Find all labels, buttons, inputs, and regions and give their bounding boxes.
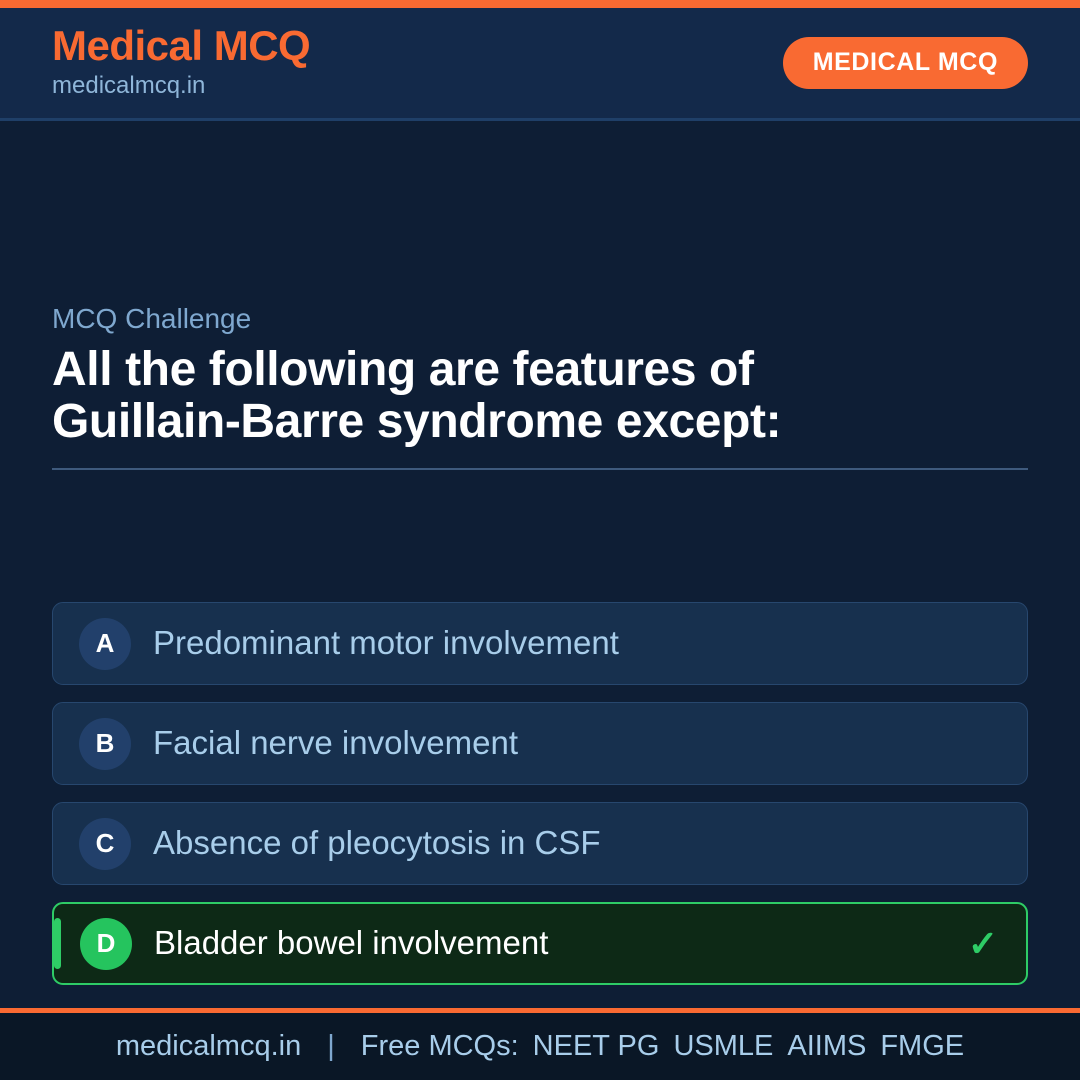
footer-exam[interactable]: USMLE	[673, 1030, 773, 1062]
footer-separator: |	[327, 1030, 335, 1063]
option-b[interactable]: BFacial nerve involvement	[52, 702, 1028, 785]
option-d[interactable]: DBladder bowel involvement✓	[52, 902, 1028, 985]
options-list: APredominant motor involvementBFacial ne…	[52, 602, 1028, 985]
header-badge: MEDICAL MCQ	[783, 37, 1028, 89]
question-line-2: Guillain-Barre syndrome except:	[52, 396, 1028, 448]
footer-site: medicalmcq.in	[116, 1030, 301, 1063]
header-bar: Medical MCQ medicalmcq.in MEDICAL MCQ	[0, 8, 1080, 121]
question-divider	[52, 468, 1028, 470]
footer-exam[interactable]: FMGE	[880, 1030, 964, 1062]
option-label: Bladder bowel involvement	[154, 925, 968, 961]
question-block: MCQ Challenge All the following are feat…	[52, 302, 1028, 470]
brand-block: Medical MCQ medicalmcq.in	[52, 24, 310, 101]
option-label: Facial nerve involvement	[153, 725, 999, 761]
footer-bar: medicalmcq.in | Free MCQs: NEET PGUSMLEA…	[0, 1008, 1080, 1080]
option-c[interactable]: CAbsence of pleocytosis in CSF	[52, 802, 1028, 885]
mcq-card: Medical MCQ medicalmcq.in MEDICAL MCQ MC…	[0, 0, 1080, 1080]
brand-subtitle: medicalmcq.in	[52, 70, 310, 101]
option-letter-badge: A	[79, 618, 131, 670]
option-a[interactable]: APredominant motor involvement	[52, 602, 1028, 685]
option-letter-badge: C	[79, 818, 131, 870]
footer-label: Free MCQs:	[361, 1030, 519, 1063]
footer-exam[interactable]: AIIMS	[787, 1030, 866, 1062]
footer-content: medicalmcq.in | Free MCQs: NEET PGUSMLEA…	[116, 1030, 964, 1063]
footer-exam[interactable]: NEET PG	[533, 1030, 660, 1062]
brand-title: Medical MCQ	[52, 24, 310, 68]
correct-accent-bar	[54, 918, 61, 969]
question-eyebrow: MCQ Challenge	[52, 302, 1028, 336]
option-label: Predominant motor involvement	[153, 625, 999, 661]
top-accent-stripe	[0, 0, 1080, 8]
check-icon: ✓	[968, 926, 998, 962]
question-line-1: All the following are features of	[52, 344, 1028, 396]
option-label: Absence of pleocytosis in CSF	[153, 825, 999, 861]
footer-exam-list: NEET PGUSMLEAIIMSFMGE	[533, 1030, 964, 1063]
question-text: All the following are features of Guilla…	[52, 344, 1028, 449]
main-content: MCQ Challenge All the following are feat…	[0, 121, 1080, 1008]
option-letter-badge: D	[80, 918, 132, 970]
option-letter-badge: B	[79, 718, 131, 770]
